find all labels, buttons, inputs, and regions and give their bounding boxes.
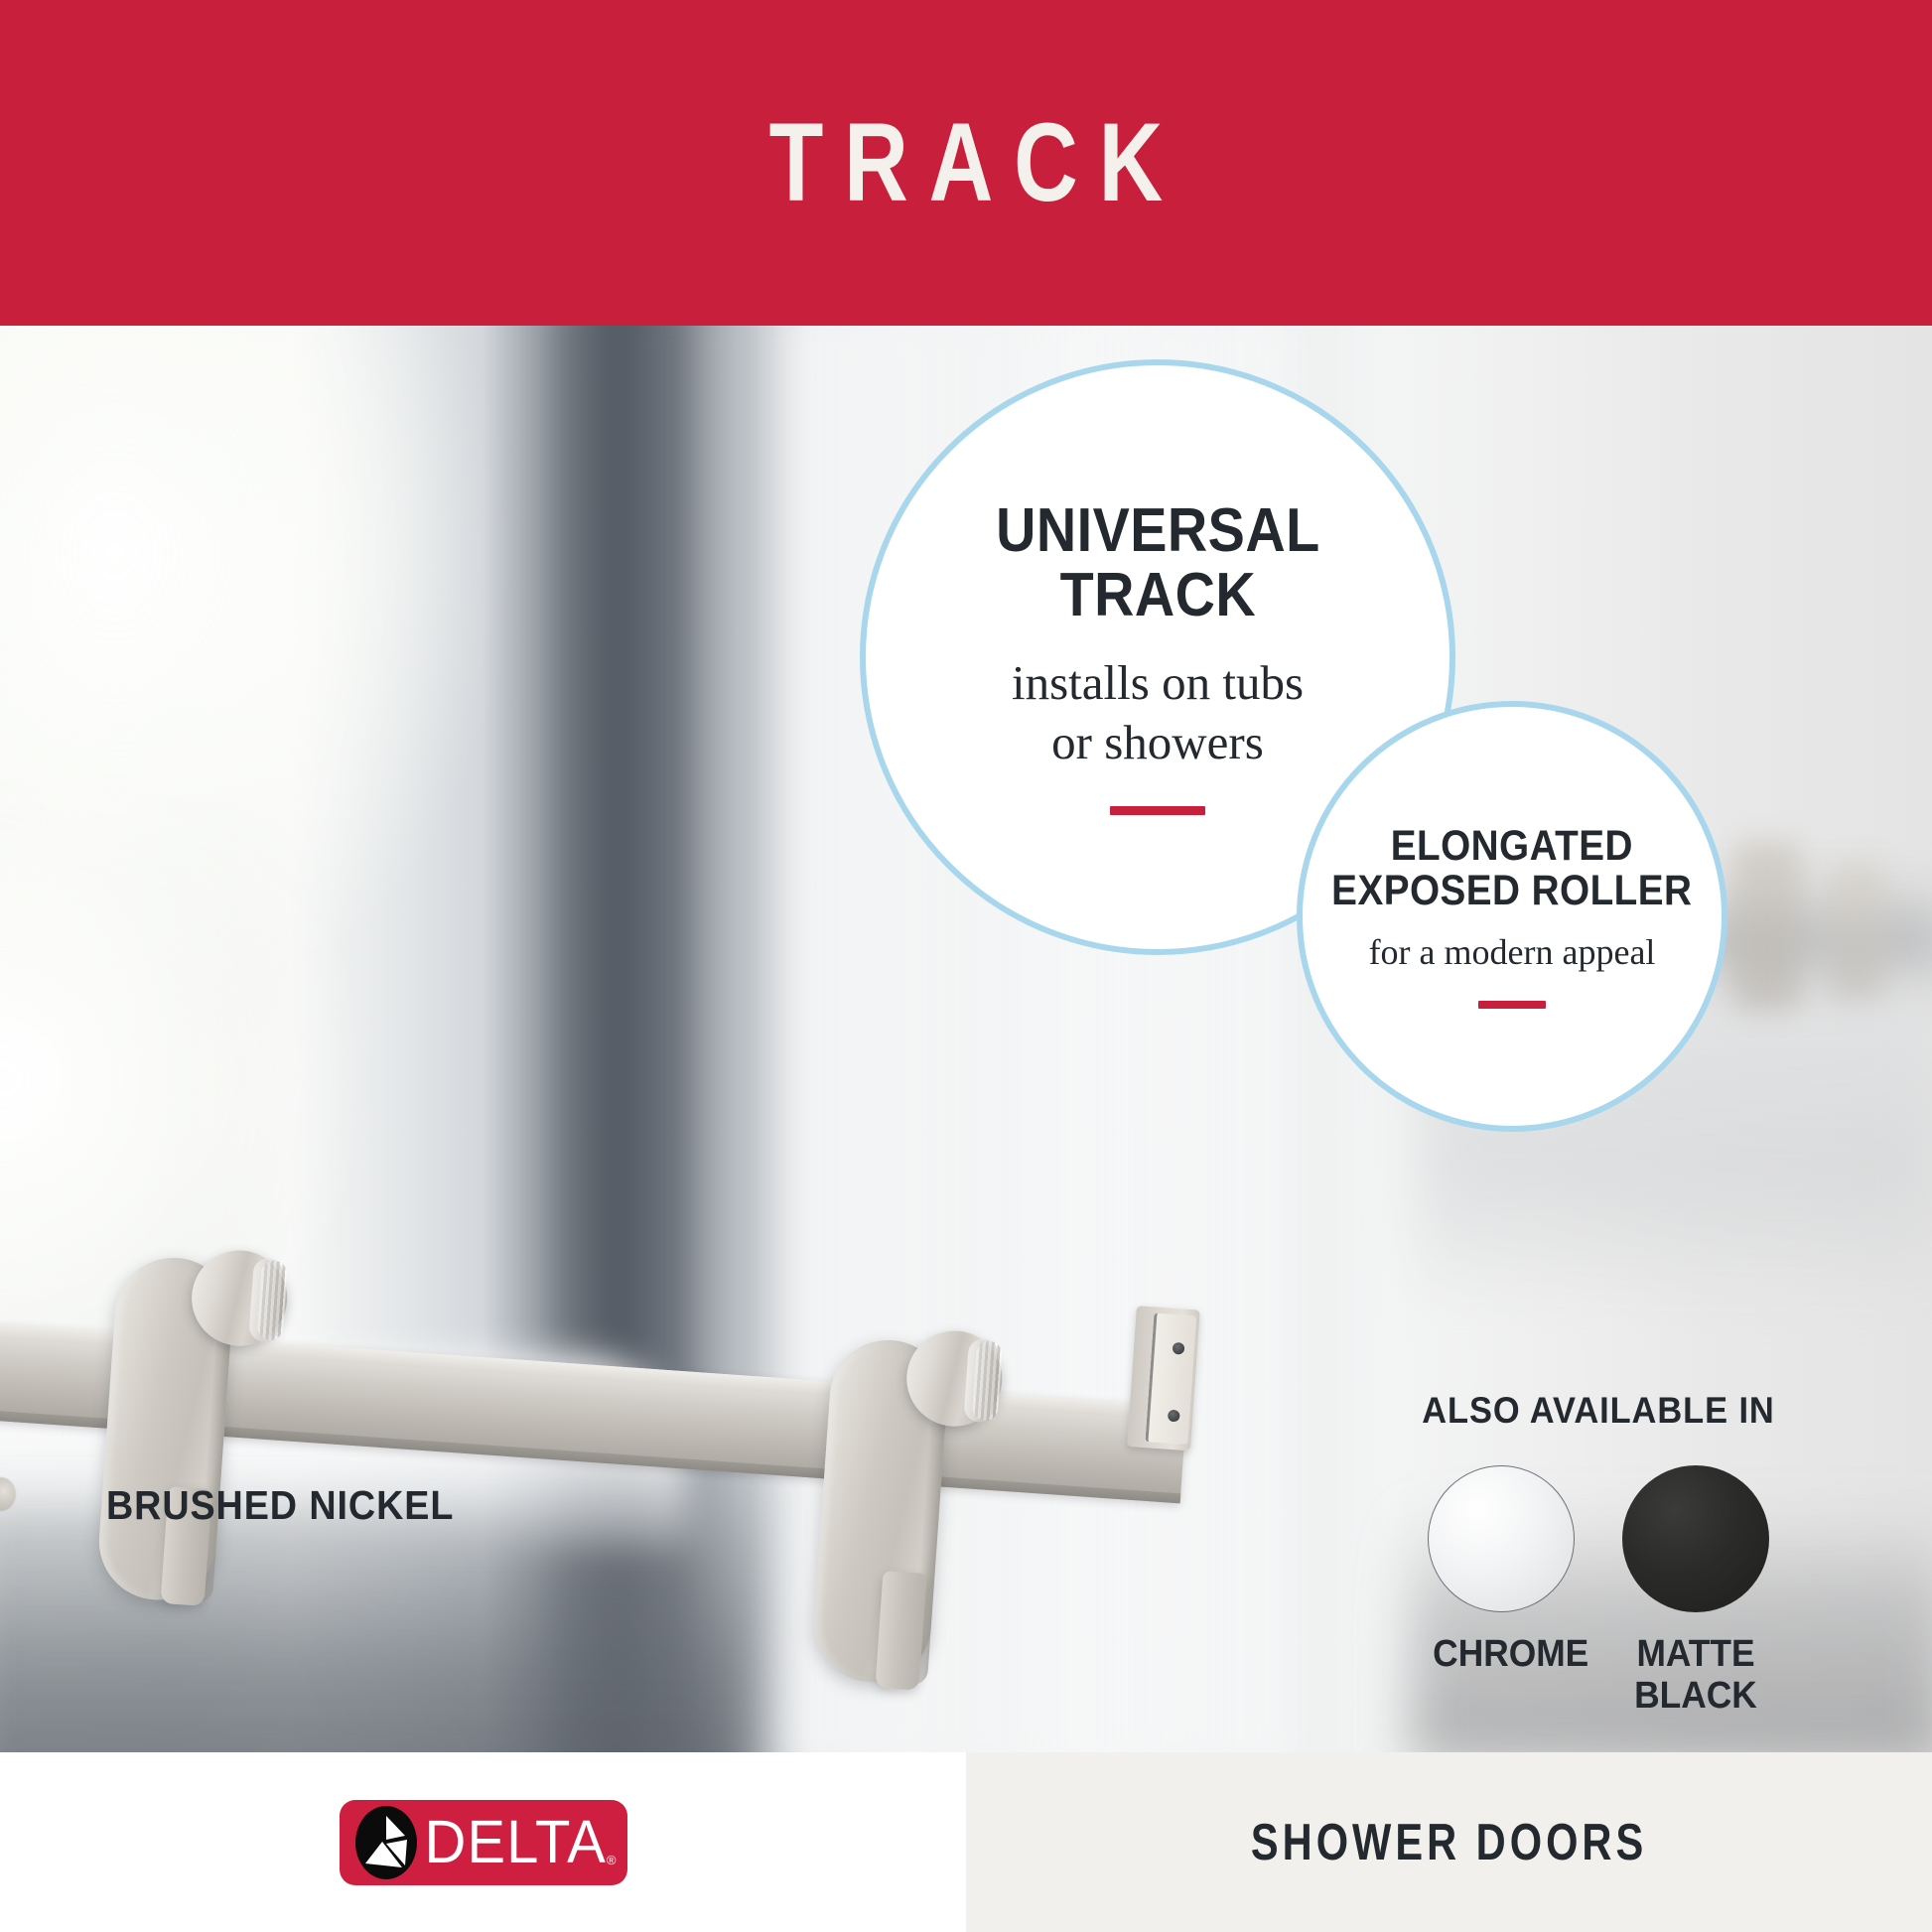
footer-brand-area: DELTA ® [0,1752,966,1932]
footer-category-label: SHOWER DOORS [1251,1813,1647,1872]
delta-triangle-icon [355,1806,417,1879]
also-available-title: ALSO AVAILABLE IN [1405,1390,1793,1432]
bracket-plate [1145,1312,1196,1445]
screw-hole-icon [1168,1410,1180,1423]
partial-hardware-edge [0,1477,16,1511]
swatch-label: CHROME [1433,1634,1570,1676]
delta-wordmark: DELTA [425,1812,607,1872]
page-title: TRACK [749,107,1183,218]
callout-heading-line1: ELONGATED [1391,822,1633,870]
callout-subtext: installs on tubs or showers [1012,653,1304,772]
top-banner: TRACK [0,0,1932,326]
callout-subtext-line1: for a modern appeal [1369,932,1656,972]
accent-dash [1110,806,1205,815]
product-feature-graphic: TRACK [0,0,1932,1932]
delta-logo[interactable]: DELTA ® [340,1800,627,1885]
callout-heading-line1: UNIVERSAL [996,496,1319,565]
callout-heading-line2: TRACK [1059,561,1256,629]
callout-heading: ELONGATED EXPOSED ROLLER [1331,824,1692,912]
callout-subtext-line2: or showers [1051,715,1264,769]
swatch-label-line1: MATTE [1636,1633,1754,1675]
swatch-label: MATTE BLACK [1627,1634,1764,1718]
chrome-swatch-icon[interactable] [1428,1465,1575,1612]
callout-exposed-roller: ELONGATED EXPOSED ROLLER for a modern ap… [1297,701,1727,1132]
footer: DELTA ® SHOWER DOORS [0,1752,1932,1932]
swatch-row: CHROME MATTE BLACK [1390,1465,1807,1718]
wall-mount-bracket-icon [1127,1306,1200,1450]
accent-dash [1478,1001,1546,1009]
finish-label: BRUSHED NICKEL [106,1482,454,1529]
callout-subtext-line1: installs on tubs [1012,655,1304,710]
callout-subtext: for a modern appeal [1369,931,1656,975]
swatch-label-line2: BLACK [1634,1675,1757,1717]
glass-clamp [875,1571,926,1691]
swatch-option-matte-black[interactable]: MATTE BLACK [1622,1465,1769,1718]
callout-heading-line2: EXPOSED ROLLER [1331,867,1692,914]
roller-grooves [256,1260,288,1341]
screw-hole-icon [1173,1342,1185,1355]
matte-black-swatch-icon[interactable] [1622,1465,1769,1612]
also-available-section: ALSO AVAILABLE IN CHROME MATTE BLACK [1390,1390,1807,1718]
swatch-option-chrome[interactable]: CHROME [1428,1465,1575,1718]
product-photo: BRUSHED NICKEL UNIVERSAL TRACK installs … [0,326,1932,1752]
footer-category-area: SHOWER DOORS [966,1752,1932,1932]
callout-heading: UNIVERSAL TRACK [996,499,1319,627]
registered-trademark-icon: ® [607,1853,617,1867]
